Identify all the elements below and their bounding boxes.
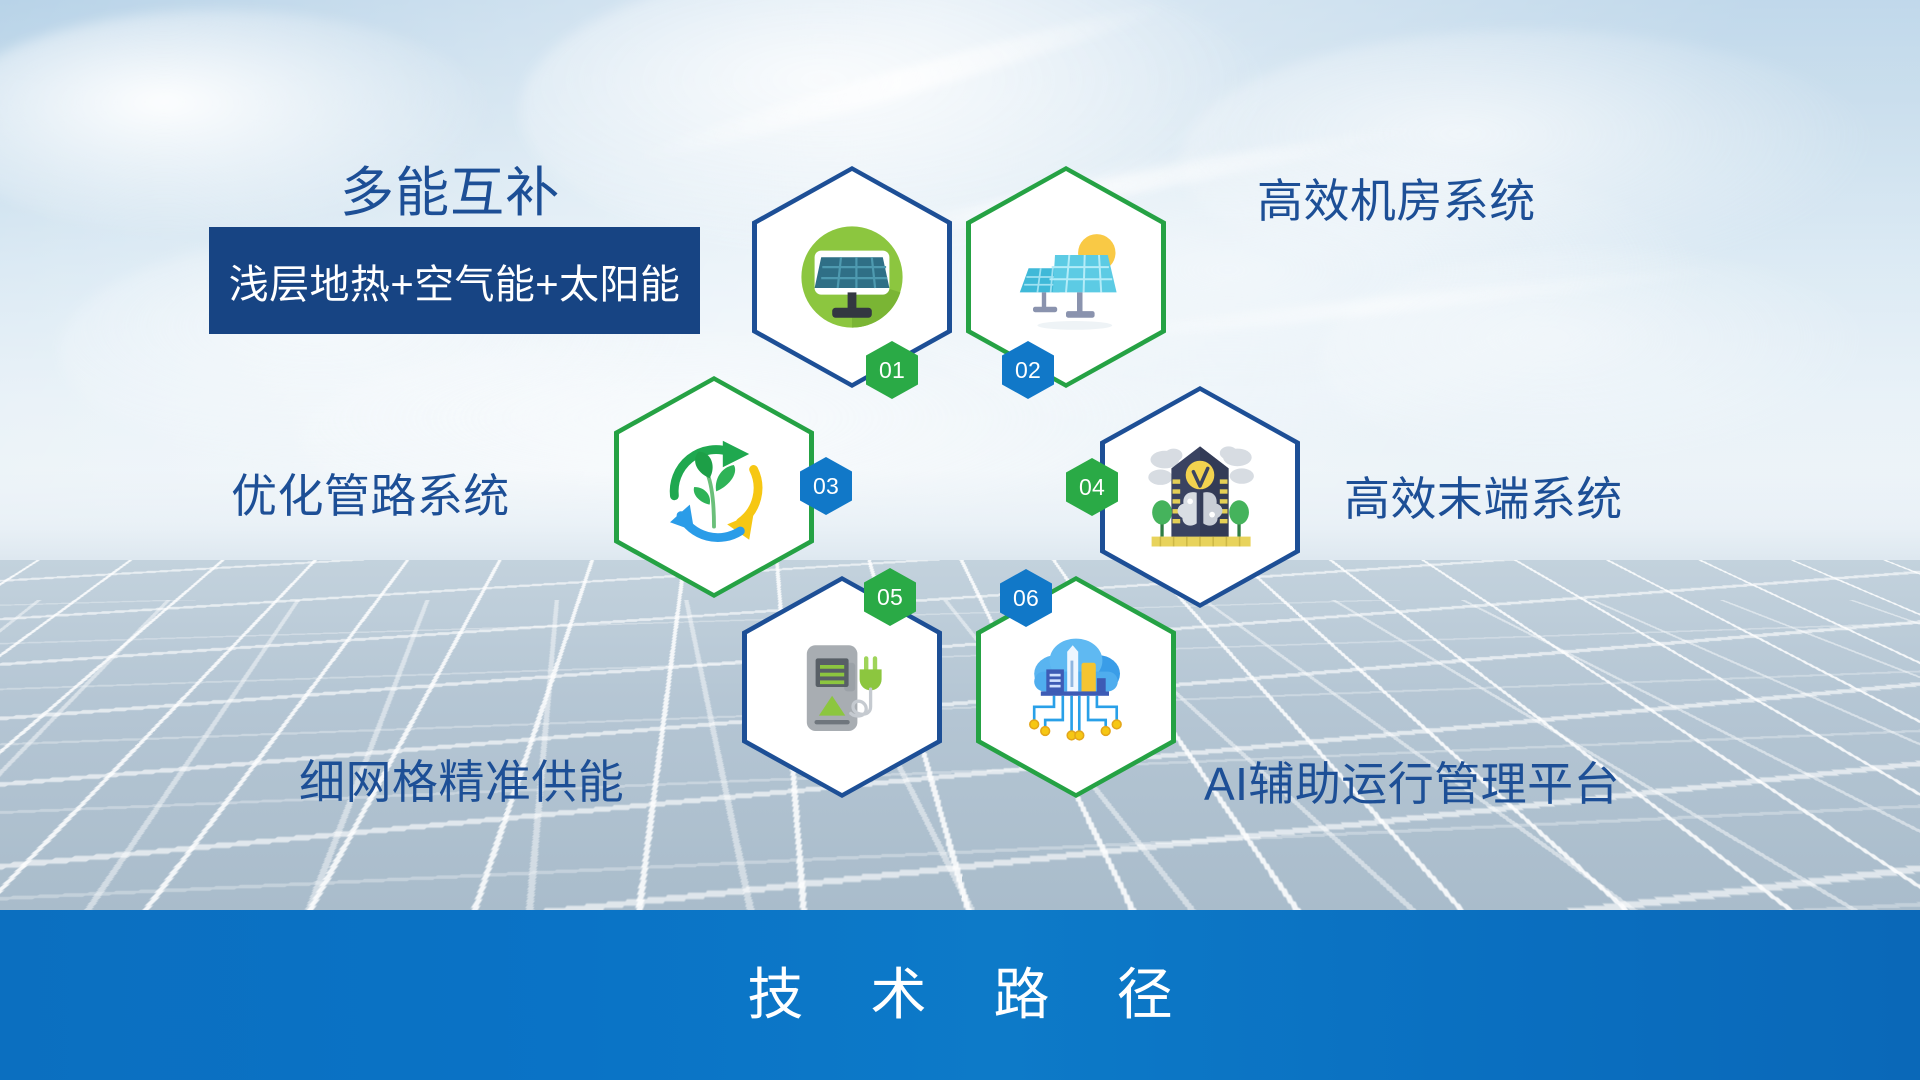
solar-array-sun-icon [1000, 211, 1132, 343]
bottom-banner: 技 术 路 径 [0, 910, 1920, 1080]
smart-building-icon [1134, 431, 1266, 563]
recycle-plant-icon [648, 421, 780, 553]
page-title: 多能互补 [340, 148, 560, 227]
hex-node-01[interactable] [752, 166, 952, 388]
highlight-tag-label: 浅层地热+空气能+太阳能 [229, 252, 681, 310]
node-label-04: 高效末端系统 [1344, 463, 1623, 529]
solar-panel-icon [786, 211, 918, 343]
banner-title: 技 术 路 径 [722, 967, 1199, 1023]
node-label-03: 优化管路系统 [231, 460, 510, 526]
node-label-05: 细网格精准供能 [299, 746, 624, 812]
hex-node-02[interactable] [966, 166, 1166, 388]
cloud-city-icon [1010, 621, 1142, 753]
node-label-02: 高效机房系统 [1257, 165, 1536, 231]
charging-station-icon [776, 621, 908, 753]
node-label-06: AI辅助运行管理平台 [1204, 748, 1620, 814]
hex-node-03[interactable] [614, 376, 814, 598]
hex-node-04[interactable] [1100, 386, 1300, 608]
highlight-tag-box: 浅层地热+空气能+太阳能 [209, 227, 700, 334]
